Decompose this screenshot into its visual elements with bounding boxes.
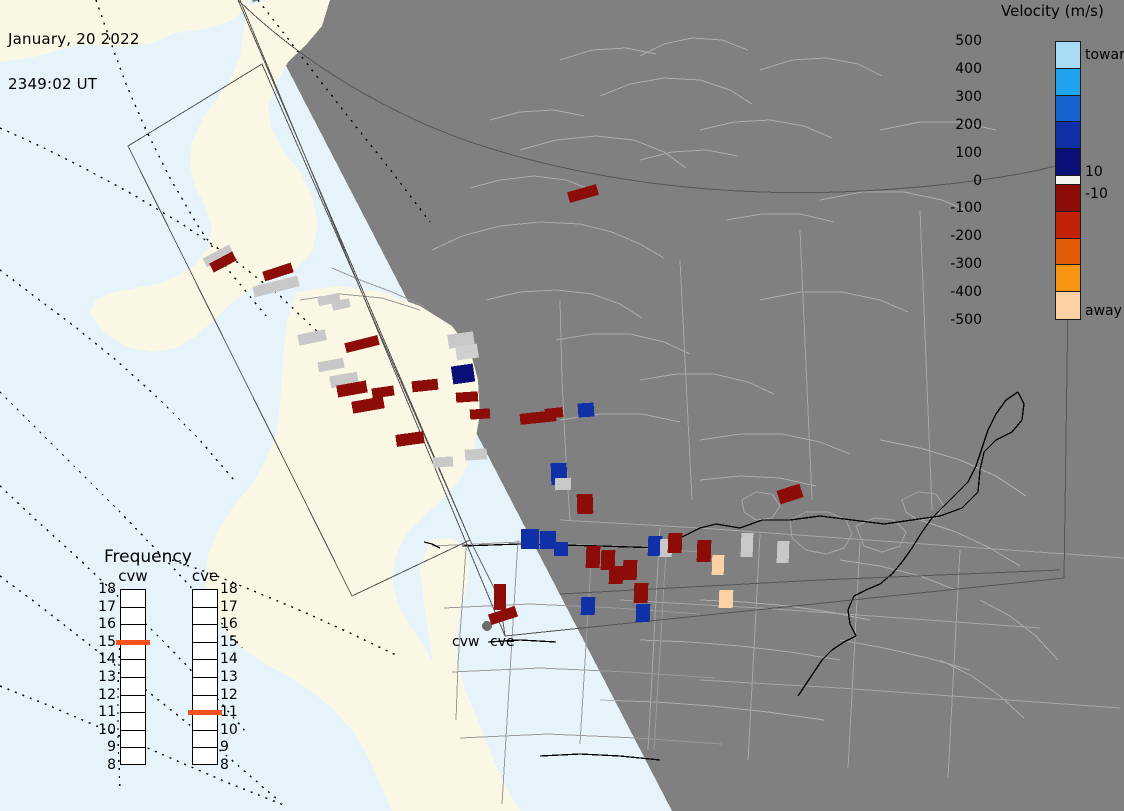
frequency-scale-cell: [193, 731, 217, 749]
frequency-tick-label: 14: [98, 651, 116, 667]
velocity-near-zero-positive-label: 10: [1085, 164, 1103, 180]
timestamp-time: 2349:02 UT: [8, 77, 140, 92]
frequency-tick-label: 17: [220, 599, 238, 615]
frequency-tick-label: 11: [98, 704, 116, 720]
radar-cell: [521, 529, 539, 549]
radar-cell: [494, 584, 506, 610]
frequency-scale-cell: [193, 590, 217, 608]
radar-cell: [456, 391, 479, 403]
velocity-away-label: away: [1085, 303, 1122, 319]
velocity-tick-label: 500: [955, 33, 982, 49]
frequency-tick-label: 11: [220, 704, 238, 720]
radar-cell: [712, 555, 725, 575]
frequency-tick-label: 15: [220, 634, 238, 650]
frequency-tick-label: 17: [98, 599, 116, 615]
frequency-tick-label: 9: [220, 739, 229, 755]
radar-cell: [470, 408, 491, 419]
frequency-tick-label: 10: [98, 722, 116, 738]
frequency-tick-label: 10: [220, 722, 238, 738]
frequency-tick-label: 15: [98, 634, 116, 650]
velocity-tick-label: -200: [950, 228, 982, 244]
frequency-scale-cell: [121, 731, 145, 749]
radar-cell: [555, 478, 571, 491]
frequency-tick-label: 16: [98, 616, 116, 632]
radar-cell: [623, 560, 638, 580]
frequency-tick-label: 14: [220, 651, 238, 667]
radar-cell: [465, 448, 488, 461]
radar-cell: [545, 407, 564, 419]
frequency-scale-cell: [121, 660, 145, 678]
radar-cell: [719, 590, 734, 608]
frequency-marker: [188, 710, 222, 715]
radar-cell: [451, 364, 475, 385]
station-label-cvw: cvw: [452, 634, 479, 650]
frequency-tick-label: 8: [220, 757, 229, 773]
frequency-tick-label: 13: [220, 669, 238, 685]
frequency-tick-label: 13: [98, 669, 116, 685]
velocity-tick-label: 400: [955, 61, 982, 77]
radar-cell: [433, 456, 454, 467]
velocity-colorbar-side-labels: toward10-10away: [990, 0, 1124, 340]
frequency-scale-cell: [121, 748, 145, 766]
velocity-tick-label: -400: [950, 284, 982, 300]
frequency-scale-cell: [193, 678, 217, 696]
frequency-tick-label: 8: [98, 757, 116, 773]
station-label-cve: cve: [490, 634, 515, 650]
radar-cell: [581, 597, 596, 615]
frequency-scale-cell: [121, 678, 145, 696]
radar-cell: [540, 531, 556, 549]
radar-cell: [777, 541, 790, 563]
radar-cell: [578, 402, 595, 417]
frequency-scale-cell: [121, 696, 145, 714]
frequency-scale-cell: [121, 590, 145, 608]
frequency-scale-cell: [193, 643, 217, 661]
velocity-tick-label: 0: [973, 173, 982, 189]
radar-cell: [577, 494, 594, 515]
radar-cell: [697, 540, 712, 562]
velocity-tick-label: 100: [955, 145, 982, 161]
frequency-tick-label: 9: [98, 739, 116, 755]
frequency-legend: Frequency cvw18171615141312111098cve1817…: [80, 545, 250, 795]
velocity-near-zero-negative-label: -10: [1085, 186, 1108, 202]
velocity-tick-label: -300: [950, 256, 982, 272]
radar-cell: [636, 604, 651, 622]
velocity-tick-label: 300: [955, 89, 982, 105]
frequency-column-label: cve: [192, 567, 218, 585]
frequency-scale-cell: [193, 748, 217, 766]
velocity-tick-label: 200: [955, 117, 982, 133]
frequency-tick-label: 18: [98, 581, 116, 597]
radar-map-screen: cvw cve January, 20 2022 2349:02 UT Velo…: [0, 0, 1124, 811]
frequency-tick-label: 12: [220, 687, 238, 703]
frequency-scale-cell: [121, 608, 145, 626]
radar-cell: [586, 546, 601, 568]
radar-cell: [609, 566, 624, 584]
frequency-marker: [116, 640, 150, 645]
timestamp-date: January, 20 2022: [8, 32, 140, 47]
radar-cell: [554, 542, 568, 556]
radar-cell: [634, 583, 649, 603]
frequency-scale-cell: [193, 713, 217, 731]
radar-station-dot: [482, 621, 492, 631]
frequency-scale-cell: [193, 608, 217, 626]
velocity-toward-label: toward: [1085, 47, 1124, 63]
frequency-tick-label: 18: [220, 581, 238, 597]
velocity-colorbar: Velocity (m/s) 5004003002001000-100-200-…: [990, 0, 1124, 340]
timestamp-block: January, 20 2022 2349:02 UT: [8, 2, 140, 122]
radar-cell: [668, 533, 683, 553]
frequency-scale-box: [192, 589, 218, 765]
frequency-legend-title: Frequency: [104, 547, 192, 567]
frequency-scale-cell: [193, 625, 217, 643]
frequency-scale-cell: [121, 713, 145, 731]
frequency-scale-cell: [121, 643, 145, 661]
velocity-tick-label: -500: [950, 312, 982, 328]
frequency-scale-cell: [193, 660, 217, 678]
radar-cell: [741, 533, 754, 557]
velocity-tick-label: -100: [950, 200, 982, 216]
frequency-scale-box: [120, 589, 146, 765]
frequency-tick-label: 16: [220, 616, 238, 632]
frequency-column-label: cvw: [118, 567, 147, 585]
frequency-tick-label: 12: [98, 687, 116, 703]
